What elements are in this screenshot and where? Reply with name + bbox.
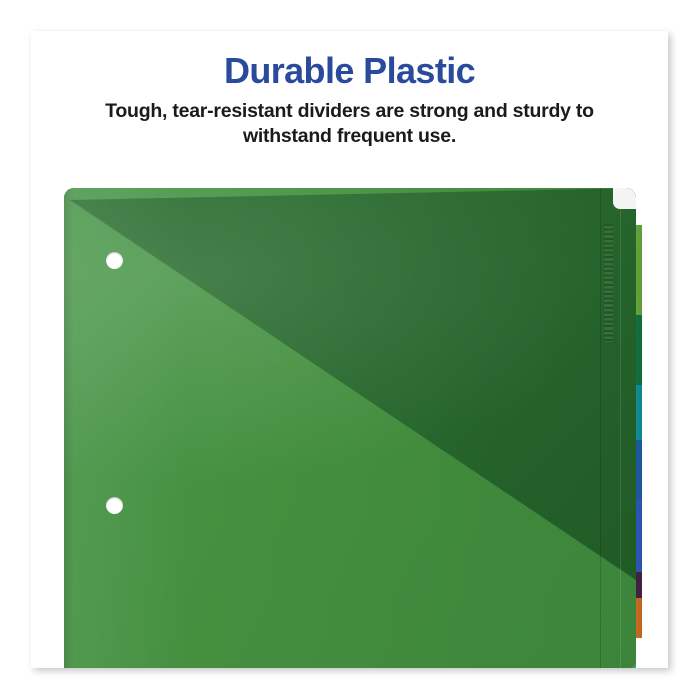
- page-title: Durable Plastic: [31, 51, 668, 91]
- pocket-top-notch: [613, 188, 636, 209]
- green-pocket-divider: [64, 188, 636, 668]
- binder-hole-bottom: [106, 497, 123, 514]
- binder-hole-top: [106, 252, 123, 269]
- product-image-stage: Durable Plastic Tough, tear-resistant di…: [0, 0, 700, 700]
- product-card: Durable Plastic Tough, tear-resistant di…: [31, 31, 668, 668]
- pocket-ribbed-edge-texture: [604, 224, 613, 342]
- headline-block: Durable Plastic Tough, tear-resistant di…: [31, 51, 668, 149]
- page-subtitle: Tough, tear-resistant dividers are stron…: [70, 99, 630, 149]
- pocket-fold-line-outer: [620, 188, 621, 668]
- pocket-fold-line-inner: [600, 188, 601, 668]
